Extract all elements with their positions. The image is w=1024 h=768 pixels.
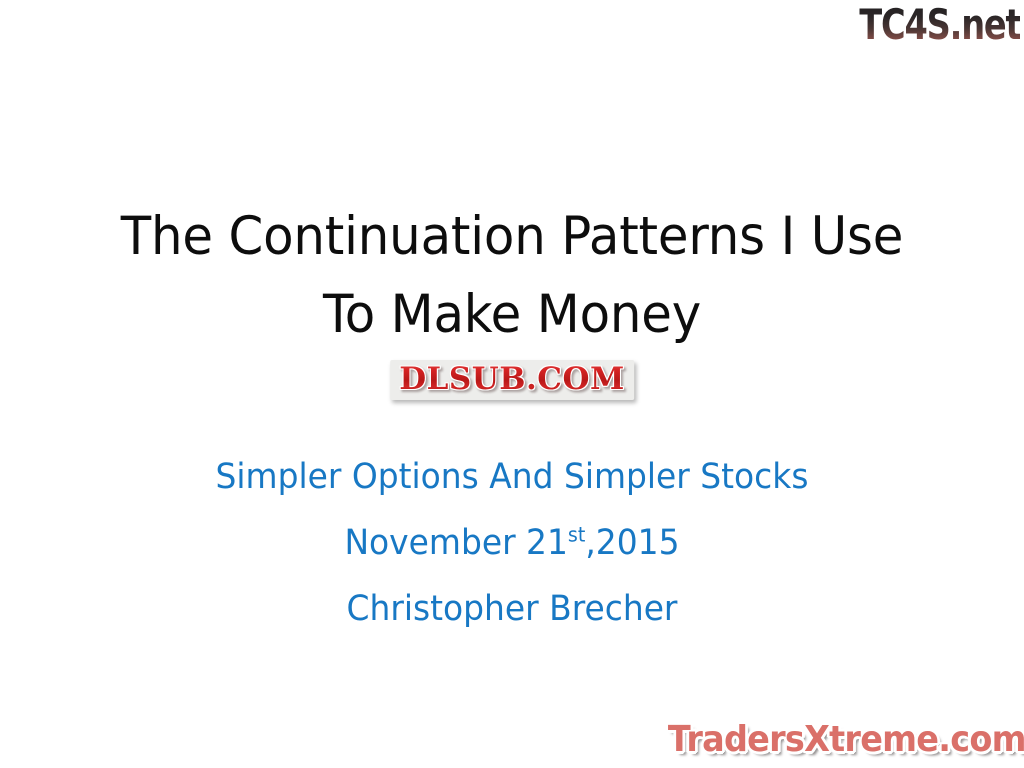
date-ordinal-suffix: st [568,522,585,546]
date-prefix: November 21 [344,523,567,563]
date-year: ,2015 [585,523,679,563]
presentation-slide: TC4S.net The Continuation Patterns I Use… [0,0,1024,768]
title-line-2: To Make Money [31,276,994,354]
dlsub-logo-text: DLSUB.COM [399,363,625,396]
subtitle-line-presenter: Christopher Brecher [31,576,994,642]
dlsub-logo: DLSUB.COM [390,360,634,400]
tc4s-watermark: TC4S.net [859,2,1020,48]
subtitle-line-date: November 21st,2015 [31,510,994,576]
slide-title: The Continuation Patterns I Use To Make … [0,198,1024,354]
title-line-1: The Continuation Patterns I Use [31,198,994,276]
subtitle-line-brand: Simpler Options And Simpler Stocks [31,444,994,510]
slide-subtitle: Simpler Options And Simpler Stocks Novem… [0,444,1024,642]
tradersxtreme-watermark: TradersXtreme.com [668,720,1024,760]
